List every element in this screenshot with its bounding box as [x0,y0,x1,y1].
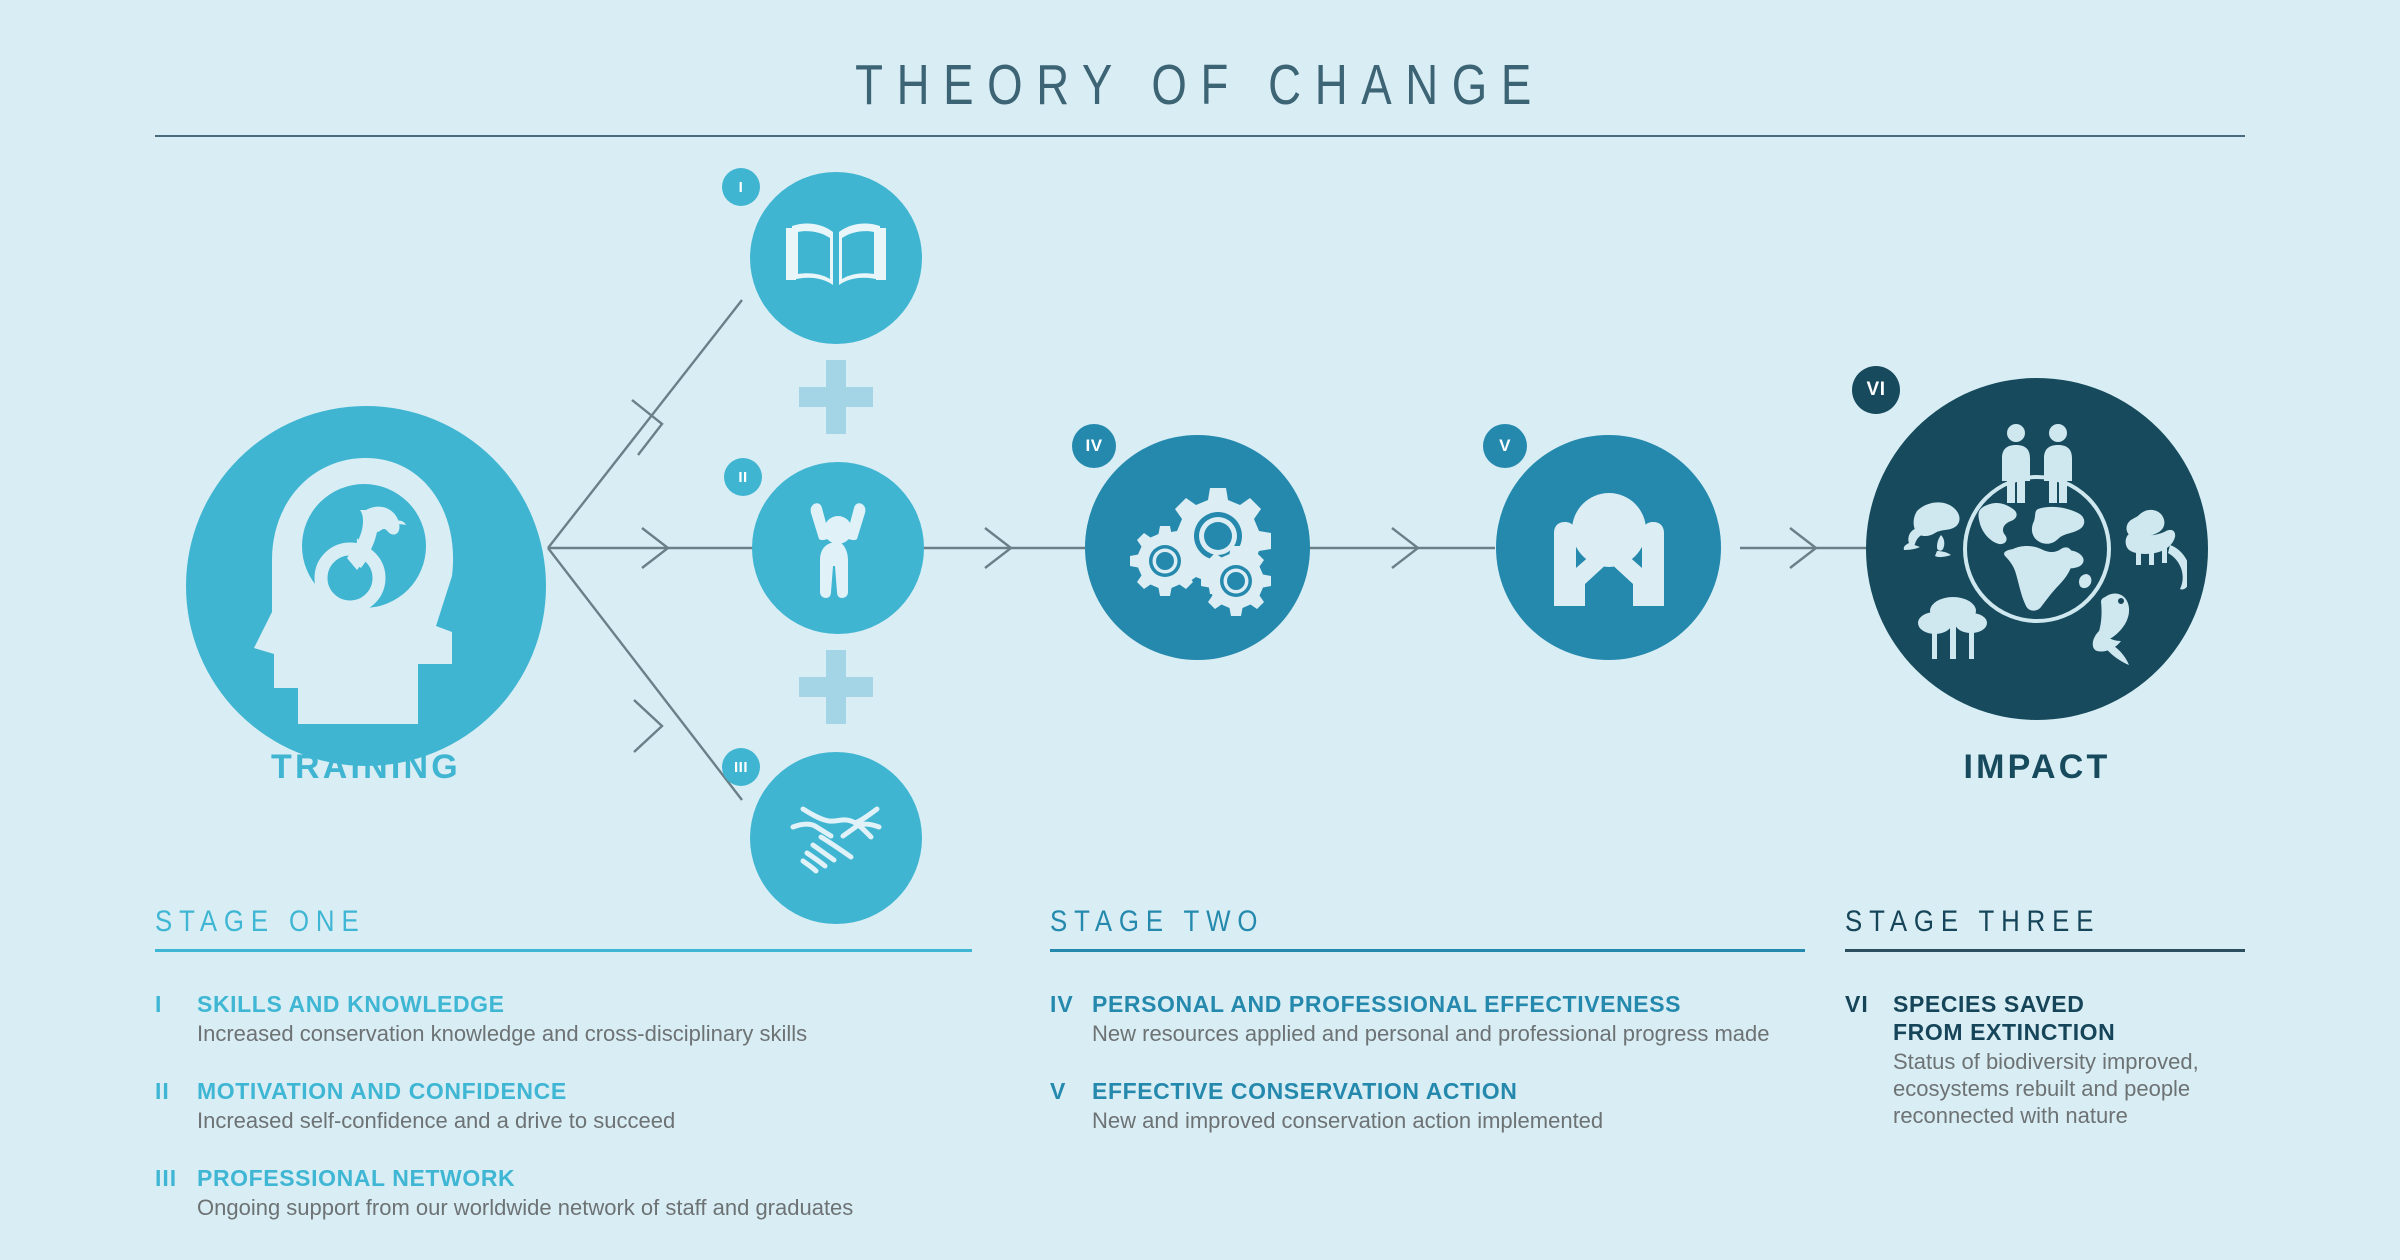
item-title: MOTIVATION AND CONFIDENCE [197,1077,972,1105]
badge-vi: VI [1852,366,1900,414]
badge-v: V [1483,424,1527,468]
stage-two-node-hands[interactable] [1496,435,1721,660]
list-item[interactable]: I SKILLS AND KNOWLEDGE Increased conserv… [155,990,972,1047]
list-item[interactable]: III PROFESSIONAL NETWORK Ongoing support… [155,1164,972,1221]
item-title: PERSONAL AND PROFESSIONAL EFFECTIVENESS [1092,990,1805,1018]
impact-node[interactable] [1866,378,2208,720]
item-title: SKILLS AND KNOWLEDGE [197,990,972,1018]
stage-one-items: I SKILLS AND KNOWLEDGE Increased conserv… [155,990,972,1221]
list-item[interactable]: VI SPECIES SAVED FROM EXTINCTION Status … [1845,990,2245,1129]
stage-three-section: STAGE THREE VI SPECIES SAVED FROM EXTINC… [1845,905,2245,1159]
stage-one-node-person[interactable] [752,462,924,634]
item-description: New resources applied and personal and p… [1092,1020,1805,1047]
stage-one-divider [155,949,972,952]
item-title: SPECIES SAVED FROM EXTINCTION [1893,990,2245,1046]
impact-label: IMPACT [1866,748,2208,787]
item-numeral: III [155,1164,197,1221]
badge-i: I [722,168,760,206]
training-node[interactable] [186,406,546,766]
infographic-page: THEORY OF CHANGE [0,0,2400,1260]
stage-two-section: STAGE TWO IV PERSONAL AND PROFESSIONAL E… [1050,905,1805,1164]
stage-three-divider [1845,949,2245,952]
handshake-icon [777,779,895,897]
badge-ii: II [724,458,762,496]
item-description: Status of biodiversity improved, ecosyst… [1893,1048,2245,1129]
item-numeral: I [155,990,197,1047]
stage-two-items: IV PERSONAL AND PROFESSIONAL EFFECTIVENE… [1050,990,1805,1134]
item-numeral: IV [1050,990,1092,1047]
globe-biodiversity-icon [1887,399,2187,699]
list-item[interactable]: IV PERSONAL AND PROFESSIONAL EFFECTIVENE… [1050,990,1805,1047]
stage-two-divider [1050,949,1805,952]
item-description: New and improved conservation action imp… [1092,1107,1805,1134]
item-description: Increased self-confidence and a drive to… [197,1107,972,1134]
open-book-icon [780,202,892,314]
item-description: Ongoing support from our worldwide netwo… [197,1194,972,1221]
hands-holding-sphere-icon [1529,468,1689,628]
stage-two-node-gears[interactable] [1085,435,1310,660]
plus-operator-2 [799,650,873,724]
item-numeral: V [1050,1077,1092,1134]
person-arms-raised-icon [782,492,894,604]
stage-three-items: VI SPECIES SAVED FROM EXTINCTION Status … [1845,990,2245,1129]
plus-operator-1 [799,360,873,434]
item-description: Increased conservation knowledge and cro… [197,1020,972,1047]
gears-icon [1118,468,1278,628]
item-numeral: II [155,1077,197,1134]
stage-one-title: STAGE ONE [155,905,858,939]
stage-three-title: STAGE THREE [1845,905,2189,939]
item-title: PROFESSIONAL NETWORK [197,1164,972,1192]
list-item[interactable]: II MOTIVATION AND CONFIDENCE Increased s… [155,1077,972,1134]
training-label: TRAINING [186,748,546,787]
stage-one-node-book[interactable] [750,172,922,344]
badge-iii: III [722,748,760,786]
stage-one-node-handshake[interactable] [750,752,922,924]
stage-two-title: STAGE TWO [1050,905,1699,939]
item-title: EFFECTIVE CONSERVATION ACTION [1092,1077,1805,1105]
badge-iv: IV [1072,424,1116,468]
list-item[interactable]: V EFFECTIVE CONSERVATION ACTION New and … [1050,1077,1805,1134]
item-numeral: VI [1845,990,1893,1129]
head-brain-dodo-icon [216,436,516,736]
stage-one-section: STAGE ONE I SKILLS AND KNOWLEDGE Increas… [155,905,972,1251]
